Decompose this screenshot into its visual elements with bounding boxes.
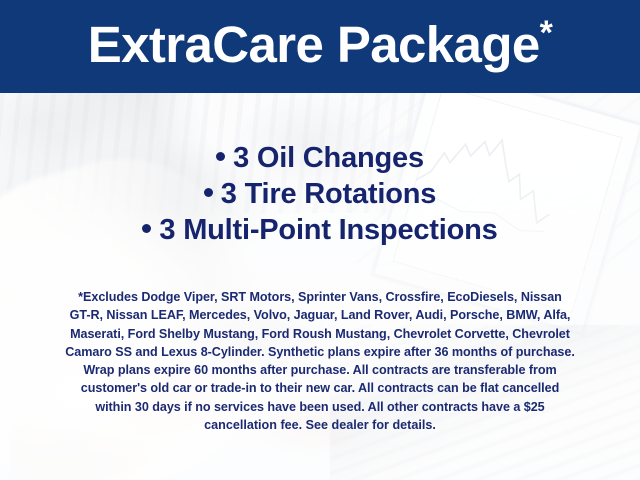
disclaimer-line: customer's old car or trade-in to their … — [34, 379, 606, 397]
disclaimer-line: *Excludes Dodge Viper, SRT Motors, Sprin… — [34, 288, 606, 306]
page-title: ExtraCare Package* — [0, 14, 640, 76]
disclaimer-line: Camaro SS and Lexus 8-Cylinder. Syntheti… — [34, 343, 606, 361]
page-title-text: ExtraCare Package — [88, 16, 540, 73]
disclaimer-line: Maserati, Ford Shelby Mustang, Ford Rous… — [34, 325, 606, 343]
benefit-label: 3 Multi-Point Inspections — [159, 214, 497, 246]
benefit-label: 3 Oil Changes — [233, 142, 424, 174]
disclaimer-line: within 30 days if no services have been … — [34, 398, 606, 416]
page-title-asterisk: * — [540, 14, 553, 52]
disclaimer-line: Wrap plans expire 60 months after purcha… — [34, 361, 606, 379]
extracare-package-ad: ExtraCare Package* 3 Oil Changes 3 Tire … — [0, 0, 640, 480]
bullet-dot-icon — [204, 188, 213, 197]
benefits-list: 3 Oil Changes 3 Tire Rotations 3 Multi-P… — [0, 140, 640, 248]
list-item: 3 Multi-Point Inspections — [0, 212, 640, 248]
list-item: 3 Oil Changes — [0, 140, 640, 176]
disclaimer-line: GT-R, Nissan LEAF, Mercedes, Volvo, Jagu… — [34, 306, 606, 324]
header-band: ExtraCare Package* — [0, 0, 640, 93]
benefit-label: 3 Tire Rotations — [221, 178, 436, 210]
disclaimer-line: cancellation fee. See dealer for details… — [34, 416, 606, 434]
bullet-dot-icon — [216, 152, 225, 161]
disclaimer-text: *Excludes Dodge Viper, SRT Motors, Sprin… — [34, 288, 606, 434]
list-item: 3 Tire Rotations — [0, 176, 640, 212]
bullet-dot-icon — [142, 224, 151, 233]
